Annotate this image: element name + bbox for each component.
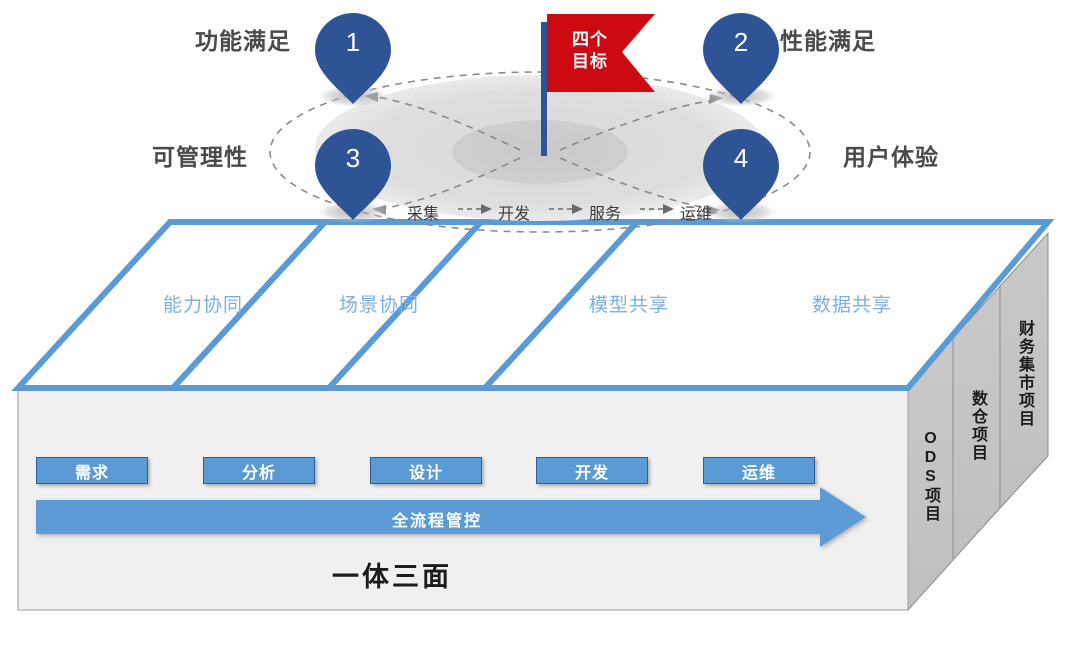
full-process-arrow-label: 全流程管控 xyxy=(392,507,482,531)
base-caption: 一体三面 xyxy=(332,555,452,594)
process-arrow-layer xyxy=(0,0,1080,651)
diagram-canvas: 功能满足 性能满足 可管理性 用户体验 1 2 3 4 四个 目标 采集 开发 … xyxy=(0,0,1080,651)
